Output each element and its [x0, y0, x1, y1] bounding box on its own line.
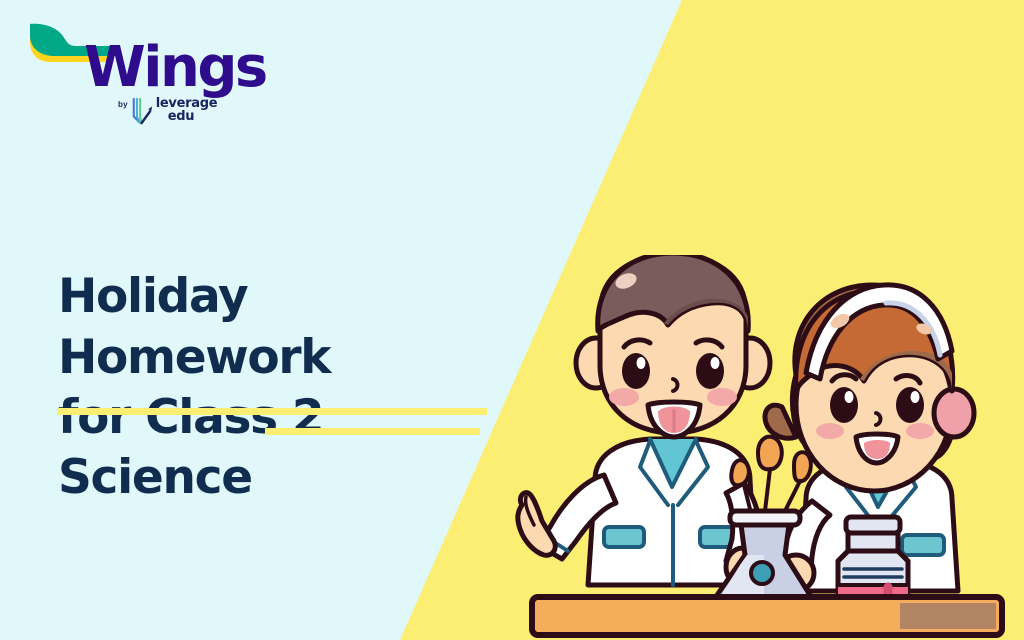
book-pen-icon [131, 96, 153, 126]
banner-canvas: Wings by leverage edu Holiday Homework f… [0, 0, 1024, 640]
by-label: by [118, 100, 128, 109]
boy-scientist [518, 255, 770, 586]
accent-line-lower [265, 428, 480, 435]
science-illustration [500, 255, 1024, 640]
brand-line-1: leverage [156, 97, 217, 110]
headline-line-2: for Class 2 Science [58, 388, 528, 508]
lab-table [532, 597, 1002, 635]
brand-line-2: edu [168, 110, 217, 123]
leverage-edu-text: leverage edu [156, 97, 217, 124]
page-title: Holiday Homework for Class 2 Science [58, 267, 528, 508]
wings-logo[interactable]: Wings by leverage edu [28, 22, 248, 132]
accent-line-upper [57, 408, 487, 415]
wings-wordmark: Wings [84, 40, 266, 96]
leverage-edu-lockup: by leverage edu [118, 94, 217, 126]
headline-line-1: Holiday Homework [58, 269, 330, 384]
